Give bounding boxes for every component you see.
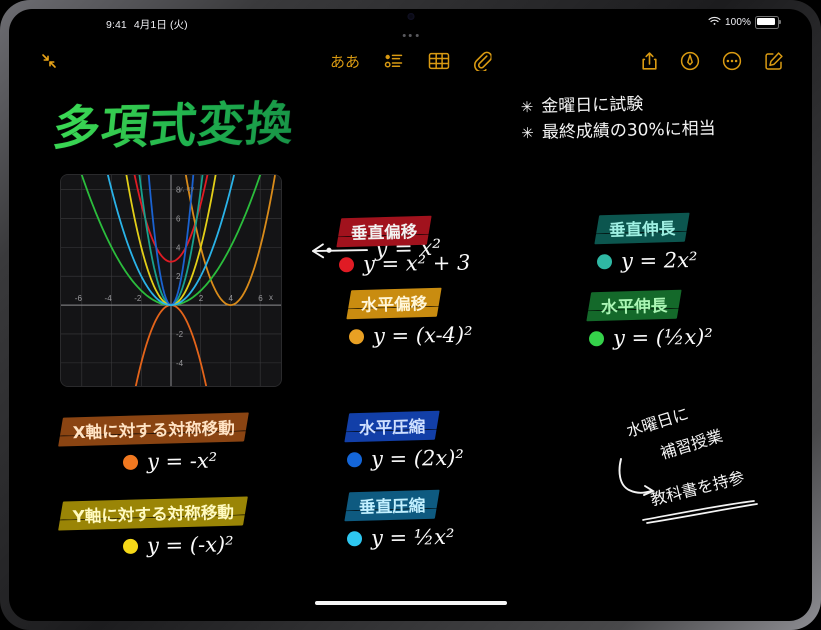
transformation-card-horizontal-compression[interactable]: 水平圧縮 y = (2x)² [347,412,547,470]
transformation-title: 垂直偏移 [351,218,418,244]
note-line-text: 最終成績の30%に相当 [542,116,716,146]
compose-button[interactable] [764,48,784,74]
transformation-equation-row: y = (2x)² [347,445,547,472]
checklist-button[interactable] [384,48,404,74]
transformation-card-horizontal-stretch[interactable]: 水平伸長 y = (½x)² [589,291,789,349]
transformation-equation-row: y = 2x² [597,247,797,274]
transformation-title: 垂直伸長 [609,215,676,241]
svg-text:-4: -4 [105,294,113,303]
transformation-equation-row: y = -x² [61,447,321,475]
asterisk-bullet-icon: ✳ [520,96,533,120]
more-button[interactable] [722,48,742,74]
home-indicator[interactable] [315,601,507,606]
share-button[interactable] [641,48,658,74]
transformation-card-vertical-compression[interactable]: 垂直圧縮 y = ½x² [347,491,547,549]
color-dot [349,329,364,344]
transformation-equation: y = ½x² [371,525,455,550]
svg-text:-4: -4 [176,359,184,368]
transformation-equation: y = (x-4)² [373,323,473,348]
color-dot [123,454,138,469]
battery-percent-label: 100% [725,17,751,28]
status-bar-right: 100% [708,16,779,29]
transformation-title: 垂直圧縮 [359,492,426,518]
transformation-card-vertical-stretch[interactable]: 垂直伸長 y = 2x² [597,214,797,272]
status-date: 4月1日 (火) [134,17,188,32]
color-dot [589,331,604,346]
svg-text:6: 6 [176,214,181,223]
transformation-card-x-axis-reflection[interactable]: X軸に対する対称移動 y = -x² [61,415,321,473]
transformation-title-highlight: Y軸に対する対称移動 [58,496,248,530]
transformation-title: 水平圧縮 [359,413,426,439]
svg-text:-2: -2 [176,330,184,339]
transformation-title-highlight: 水平伸長 [586,290,681,322]
note-canvas[interactable]: 多項式変換 ✳ 金曜日に試験 ✳ 最終成績の30%に相当 -6-4-2246-4… [9,79,812,591]
attachment-button[interactable] [473,48,491,74]
ipad-screen: 9:41 4月1日 (火) 100% [9,9,812,621]
transformation-title: 水平偏移 [361,290,428,316]
status-bar: 9:41 4月1日 (火) 100% [9,9,812,39]
handle-dot [409,34,412,37]
x-axis-label: x [269,293,273,302]
status-bar-left: 9:41 4月1日 (火) [106,17,188,32]
transformation-title-highlight: X軸に対する対称移動 [58,412,249,446]
handle-dot [402,34,405,37]
transformation-title-highlight: 垂直偏移 [336,216,431,248]
parabola-graph[interactable]: -6-4-2246-4-22468 y, uy x [61,175,281,386]
transformation-title-highlight: 水平偏移 [346,288,441,320]
transformation-card-horizontal-shift[interactable]: 水平偏移 y = (x-4)² [349,289,549,347]
notes-toolbar: ああ [9,45,812,79]
color-dot [123,538,138,553]
wifi-icon [708,16,721,29]
toolbar-center-group: ああ [330,48,491,74]
transformation-title: 水平伸長 [601,292,668,318]
status-time: 9:41 [106,19,127,31]
transformation-equation-row: y = (x-4)² [349,322,549,349]
transformation-equation: y = -x² [147,449,218,474]
text-format-button[interactable]: ああ [330,51,360,72]
page-title: 多項式変換 [50,84,298,158]
transformation-equation: y = (-x)² [147,532,234,557]
asterisk-bullet-icon: ✳ [521,122,534,146]
transformation-equation: y = (2x)² [371,446,464,471]
svg-text:-2: -2 [134,294,142,303]
handle-dot [416,34,419,37]
battery-icon [755,16,779,29]
transformation-card-vertical-shift[interactable]: 垂直偏移 y = x² + 3 [339,217,539,275]
transformation-card-y-axis-reflection[interactable]: Y軸に対する対称移動 y = (-x)² [61,499,321,557]
graph-svg: -6-4-2246-4-22468 y, uy x [61,175,281,386]
transformation-title: Y軸に対する対称移動 [72,499,234,527]
svg-text:4: 4 [228,294,233,303]
toolbar-right-group [641,48,784,74]
color-dot [597,254,612,269]
markup-button[interactable] [680,48,700,74]
note-line: ✳ 最終成績の30%に相当 [521,116,716,147]
collapse-sidebar-button[interactable] [39,51,59,71]
transformation-equation-row: y = x² + 3 [339,250,539,277]
transformation-equation-row: y = (-x)² [61,531,321,559]
transformation-equation-row: y = ½x² [347,524,547,551]
table-button[interactable] [428,48,449,74]
camera-dot [407,13,414,20]
transformation-title-highlight: 水平圧縮 [344,411,439,443]
transformation-title: X軸に対する対称移動 [72,415,235,443]
transformation-title-highlight: 垂直伸長 [594,213,689,245]
multitasking-handle[interactable] [402,34,419,37]
exam-notes-handwriting: ✳ 金曜日に試験 ✳ 最終成績の30%に相当 [520,90,716,147]
note-line-text: 金曜日に試験 [541,91,644,120]
transformation-equation: y = (½x)² [613,325,713,350]
svg-text:4: 4 [176,243,181,252]
color-dot [347,452,362,467]
transformation-equation: y = x² + 3 [363,251,471,276]
svg-text:2: 2 [199,294,204,303]
svg-text:6: 6 [258,294,263,303]
reminder-underline [641,499,759,529]
transformation-equation: y = 2x² [621,248,698,273]
color-dot [339,257,354,272]
transformation-title-highlight: 垂直圧縮 [344,490,439,522]
transformation-equation-row: y = (½x)² [589,324,789,351]
svg-text:-6: -6 [75,294,83,303]
y-axis-label: y, uy [179,184,195,193]
color-dot [347,531,362,546]
ipad-device-frame: 9:41 4月1日 (火) 100% [0,0,821,630]
